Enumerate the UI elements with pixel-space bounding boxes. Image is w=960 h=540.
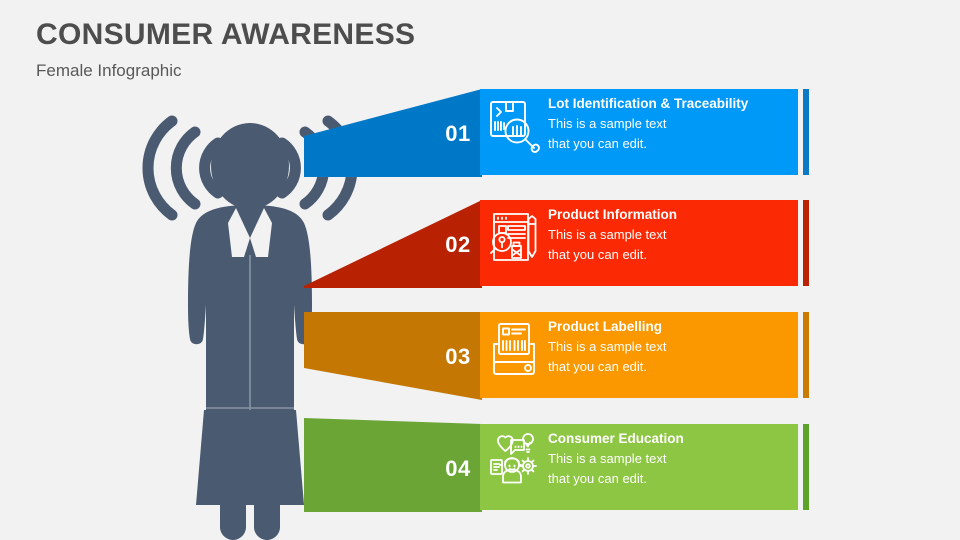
- row-1-desc-line1: This is a sample text: [548, 114, 878, 134]
- leg-left: [220, 505, 246, 540]
- slide-canvas: CONSUMER AWARENESS Female Infographic: [0, 0, 960, 540]
- page-title: CONSUMER AWARENESS: [36, 18, 596, 53]
- row-4-desc-line1: This is a sample text: [548, 449, 878, 469]
- info-row-1[interactable]: 01 Lot Identification & Traceability Thi…: [300, 83, 960, 183]
- row-1-number: 01: [435, 123, 481, 145]
- row-2-title: Product Information: [548, 207, 878, 224]
- row-3-number: 03: [435, 346, 481, 368]
- row-1-title: Lot Identification & Traceability: [548, 96, 878, 113]
- row-2-desc-line2: that you can edit.: [548, 245, 878, 265]
- head: [211, 123, 289, 209]
- skirt: [196, 410, 304, 505]
- row-1-text: Lot Identification & Traceability This i…: [548, 96, 878, 154]
- row-3-desc-line1: This is a sample text: [548, 337, 878, 357]
- person-education-gear-heart-icon: [486, 432, 542, 490]
- info-row-3[interactable]: 03 Product Labelling This is a sample te…: [300, 306, 960, 406]
- header: CONSUMER AWARENESS Female Infographic: [36, 18, 596, 81]
- row-2-desc-line1: This is a sample text: [548, 225, 878, 245]
- row-4-desc-line2: that you can edit.: [548, 469, 878, 489]
- info-row-2[interactable]: 02 Product Information This is a: [300, 194, 960, 294]
- row-3-title: Product Labelling: [548, 319, 878, 336]
- info-row-4[interactable]: 04 Consumer: [300, 418, 960, 518]
- row-4-text: Consumer Education This is a sample text…: [548, 431, 878, 489]
- label-printer-icon: [486, 320, 542, 378]
- page-subtitle: Female Infographic: [36, 61, 596, 81]
- leg-right: [254, 505, 280, 540]
- row-2-text: Product Information This is a sample tex…: [548, 207, 878, 265]
- row-3-text: Product Labelling This is a sample text …: [548, 319, 878, 377]
- sound-wave-left: [148, 121, 218, 215]
- package-barcode-magnifier-icon: [486, 97, 542, 155]
- row-1-desc-line2: that you can edit.: [548, 134, 878, 154]
- row-2-number: 02: [435, 234, 481, 256]
- document-magnifier-pen-icon: [486, 208, 542, 266]
- row-4-title: Consumer Education: [548, 431, 878, 448]
- row-3-desc-line2: that you can edit.: [548, 357, 878, 377]
- row-4-number: 04: [435, 458, 481, 480]
